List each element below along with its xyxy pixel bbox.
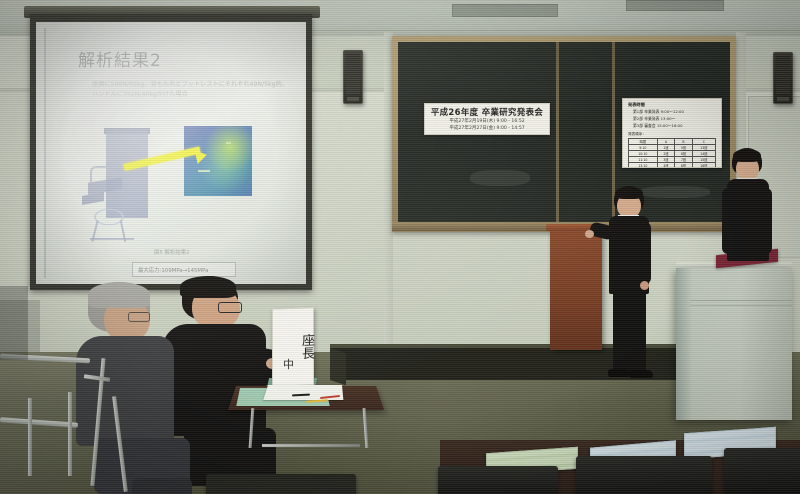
stage-left-edge (330, 348, 346, 385)
podium-groove-2 (690, 305, 792, 306)
speaker-grill (346, 54, 360, 94)
poster-table-cell: 4班 (657, 163, 675, 169)
event-date-line-2: 平成27年2月27日(金) 9:00 - 14:57 (425, 125, 549, 131)
speaker-grill-right (776, 56, 790, 94)
foreground-chair-back-3 (724, 448, 800, 494)
poster-table-cell: 8班 (675, 163, 693, 169)
audience-gray-jacket (76, 336, 174, 446)
speaker-badge (347, 97, 359, 101)
poster-heading: 発表時間 (628, 102, 645, 108)
wall-speaker-right (773, 52, 793, 104)
presenter-1-left-hand (585, 230, 594, 238)
chalk-smudge-1 (470, 170, 530, 186)
presenter-1-leg-left (613, 290, 629, 372)
poster-sub-heading: 発表順序： (628, 132, 646, 137)
presenter-waiting (718, 148, 778, 278)
event-date-line-1: 平成27年2月19日(木) 9:00 - 16:52 (425, 118, 549, 124)
presenter-1-right-arm (638, 222, 651, 284)
foreground-chair-back-2 (576, 456, 712, 494)
chair-leg-left-1 (28, 398, 32, 476)
event-title-text: 平成26年度 卒業研究発表会 (425, 106, 549, 118)
screen-vignette (36, 22, 306, 284)
presenter-2-fringe (733, 149, 761, 162)
ceiling-vent-2 (626, 0, 724, 11)
presenter-speaking (596, 186, 660, 386)
chairperson-name: 中 (283, 356, 294, 372)
projection-screen: 解析結果2 座面に588N/65kg、背もたれとフットレストにそれぞれ49N/5… (36, 22, 306, 284)
presenter-2-left-arm (722, 188, 735, 254)
blackboard-divider-1 (556, 42, 559, 222)
poster-schedule-table: 時間ABC9:101班5班13班10:102班6班14班11:103班7班15班… (628, 138, 716, 168)
presenter-2-right-arm (760, 188, 772, 254)
table-leg-cross (262, 444, 360, 447)
poster-table-row: 13:104班8班16班 (629, 163, 716, 169)
presenter-1-shoe-right (629, 370, 653, 378)
poster-table-cell: 16班 (692, 163, 715, 169)
poster-line-3: 第3部 審査会 15:00〜16:00 (633, 123, 683, 129)
poster-line-1: 第1部 卒業発表 9:00〜12:00 (633, 109, 684, 115)
podium-groove-1 (690, 300, 792, 301)
chairperson-sign: 座長 (272, 307, 314, 386)
wall-speaker-left (343, 50, 363, 104)
gray-podium (676, 268, 792, 420)
poster-line-2: 第2部 卒業発表 13:00〜 (633, 116, 675, 122)
speaker-badge-right (777, 97, 789, 101)
presenter-1-leg-right (629, 290, 646, 372)
audience-gray-hair-crown (88, 282, 150, 308)
audience-gray-leg (132, 478, 192, 494)
poster-table-cell: 13:10 (629, 163, 658, 169)
foreground-chair-back-1 (438, 466, 558, 494)
presenter-1-right-hand (640, 281, 649, 290)
audience-gray-glasses (128, 312, 150, 322)
ceiling-vent (452, 4, 558, 17)
foreground-chair-back-4 (206, 474, 356, 494)
audience-dark-glasses (218, 302, 242, 313)
presentation-room-photo: 平成26年度 卒業研究発表会 平成27年2月19日(木) 9:00 - 16:5… (0, 0, 800, 494)
wooden-lectern (550, 228, 602, 350)
presenter-1-fringe (615, 187, 643, 199)
left-wall-dark-panel (0, 286, 28, 360)
stage-platform (330, 348, 730, 380)
ceiling-seam (300, 30, 800, 31)
chair-leg-left-2 (68, 392, 72, 476)
schedule-poster: 発表時間 第1部 卒業発表 9:00〜12:00 第2部 卒業発表 13:00〜… (622, 98, 722, 168)
event-title-sign: 平成26年度 卒業研究発表会 平成27年2月19日(木) 9:00 - 16:5… (424, 103, 550, 135)
presenter-1-shoe-left (608, 369, 630, 377)
